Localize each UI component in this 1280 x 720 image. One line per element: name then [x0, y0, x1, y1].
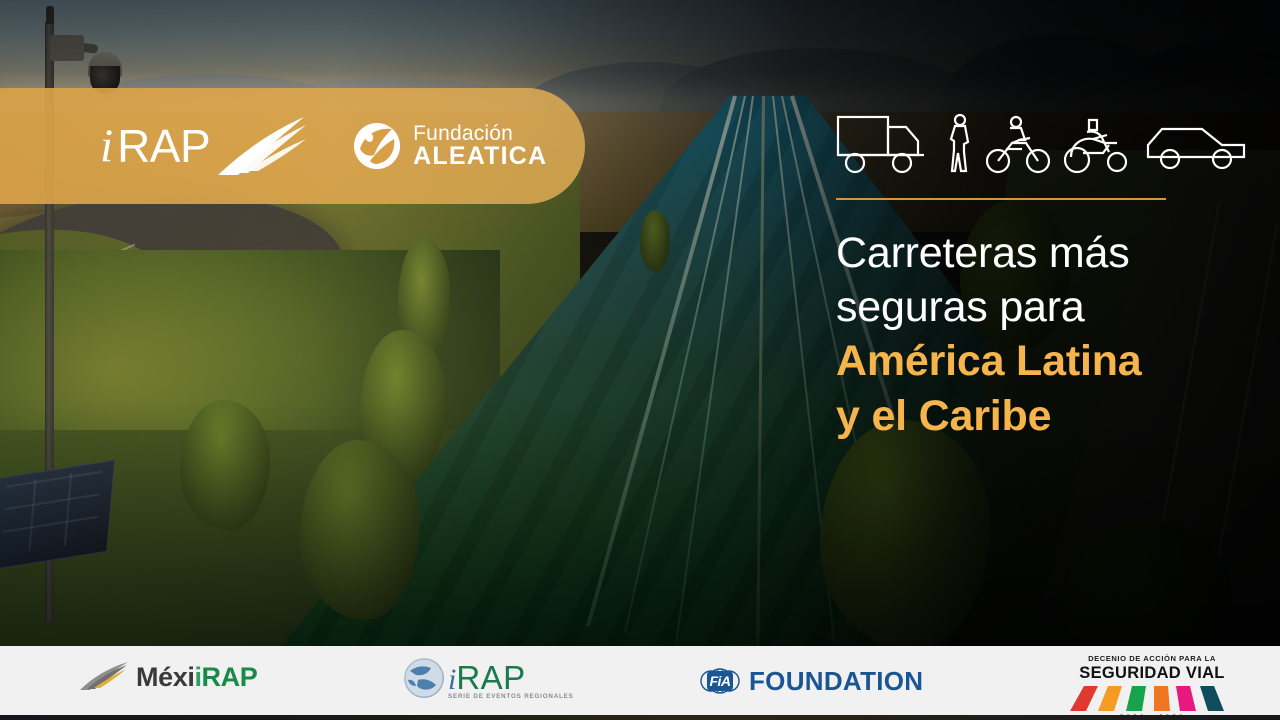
- car-icon: [1144, 113, 1248, 180]
- decade-line-2: SEGURIDAD VIAL: [1079, 664, 1224, 683]
- headline-block: Carreteras más seguras para América Lati…: [836, 226, 1236, 443]
- globe-icon: [404, 658, 444, 698]
- mexirap-wordmark: MéxiiRAP: [136, 662, 257, 693]
- aleatica-globe-icon: [354, 123, 400, 169]
- aleatica-line2: ALEATICA: [413, 144, 547, 170]
- aleatica-logo[interactable]: Fundación ALEATICA: [354, 123, 547, 170]
- slide-canvas: i RAP: [0, 0, 1280, 720]
- irap-logo-i: i: [100, 123, 113, 170]
- road-swoosh-icon: [216, 113, 308, 179]
- decade-of-action-logo[interactable]: DECENIO DE ACCIÓN PARA LA SEGURIDAD VIAL…: [1064, 654, 1240, 720]
- mexirap-part3: RAP: [202, 662, 258, 692]
- pedestrian-icon: [947, 113, 973, 180]
- irap-events-wordmark: iRAP SERIE DE EVENTOS REGIONALES: [448, 659, 526, 697]
- motorcyclist-icon: [1063, 113, 1131, 180]
- headline-line-4: y el Caribe: [836, 389, 1236, 443]
- aleatica-wordmark: Fundación ALEATICA: [413, 123, 547, 170]
- irap-logo-word: RAP: [117, 123, 210, 169]
- right-content: Carreteras más seguras para América Lati…: [836, 112, 1236, 443]
- decade-line-1: DECENIO DE ACCIÓN PARA LA: [1088, 654, 1216, 663]
- headline-line-1: Carreteras más: [836, 226, 1236, 280]
- aleatica-line1: Fundación: [413, 123, 547, 144]
- mexirap-part2: i: [194, 662, 201, 692]
- fia-badge-text: FiA: [707, 671, 733, 691]
- irap-events-word: RAP: [456, 659, 525, 696]
- road-user-icons: [836, 112, 1236, 180]
- headline-line-2: seguras para: [836, 280, 1236, 334]
- truck-icon: [836, 113, 934, 180]
- bottom-edge-strip: [0, 715, 1280, 720]
- fia-foundation-logo[interactable]: FiA FOUNDATION: [700, 664, 923, 698]
- mexirap-swoosh-icon: [78, 660, 130, 694]
- brand-banner: i RAP: [0, 88, 585, 204]
- headline-line-3: América Latina: [836, 334, 1236, 388]
- gold-divider: [836, 198, 1166, 200]
- mexirap-logo[interactable]: MéxiiRAP: [78, 660, 257, 694]
- cyclist-icon: [986, 113, 1050, 180]
- fia-globe-icon: FiA: [700, 664, 740, 698]
- fia-foundation-word: FOUNDATION: [749, 666, 923, 697]
- irap-events-logo[interactable]: iRAP SERIE DE EVENTOS REGIONALES: [404, 658, 526, 698]
- irap-events-subtitle: SERIE DE EVENTOS REGIONALES: [448, 693, 574, 700]
- mexirap-part1: Méxi: [136, 662, 194, 692]
- zebra-crossing-icon: [1064, 686, 1240, 711]
- irap-logo[interactable]: i RAP: [100, 113, 308, 179]
